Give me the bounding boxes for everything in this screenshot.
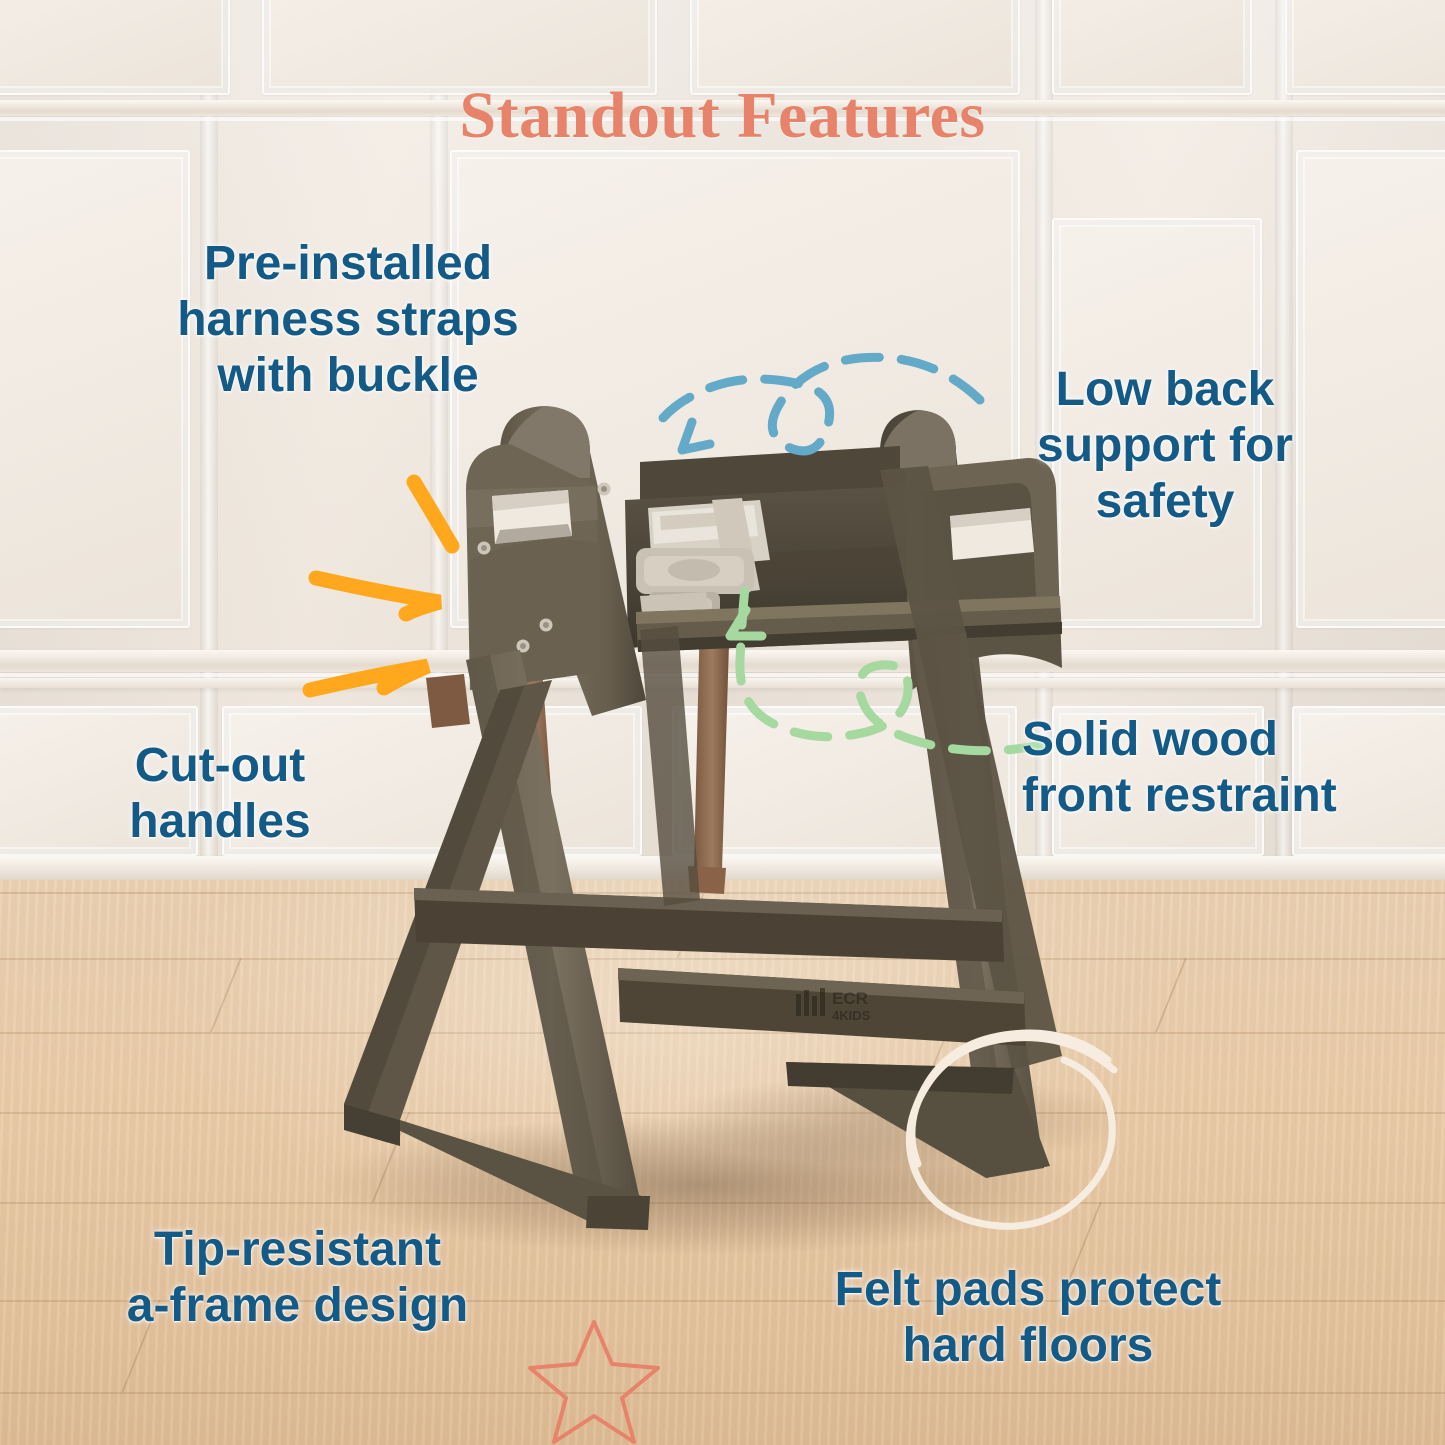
feature-label-low-back: Low back support for safety xyxy=(1000,362,1330,530)
svg-text:4KIDS: 4KIDS xyxy=(832,1008,871,1023)
infographic-canvas: ECR 4KIDS xyxy=(0,0,1445,1445)
feature-label-harness: Pre-installed harness straps with buckle xyxy=(138,236,558,404)
page-title: Standout Features xyxy=(0,78,1445,154)
svg-text:ECR: ECR xyxy=(832,989,868,1008)
feature-label-tip-resistant: Tip-resistant a-frame design xyxy=(70,1222,525,1334)
feature-label-solid-wood: Solid wood front restraint xyxy=(1022,712,1440,824)
harness-strap xyxy=(694,612,730,870)
feature-label-felt-pads: Felt pads protect hard floors xyxy=(818,1262,1238,1374)
feature-label-cut-out: Cut-out handles xyxy=(85,738,355,850)
